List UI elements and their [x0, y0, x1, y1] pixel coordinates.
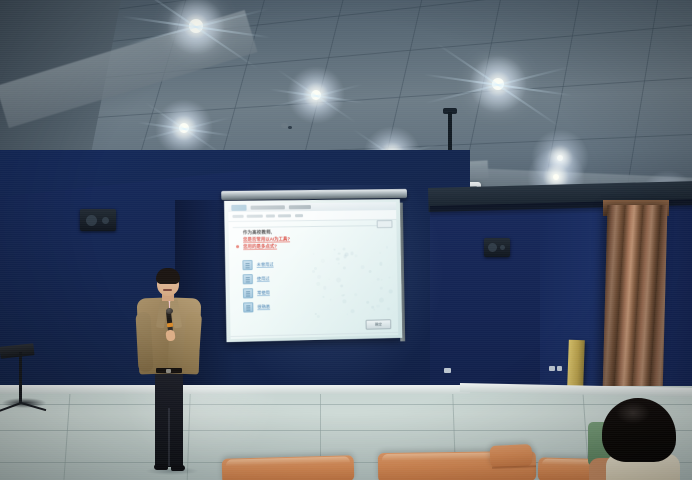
speaker-tweeter-left [102, 217, 109, 224]
slide-decorative-dot [366, 301, 369, 304]
slide-decorative-dot [313, 253, 315, 255]
presenter-arm-left [135, 312, 153, 373]
presenter [128, 268, 208, 480]
presenter-hair [156, 268, 180, 284]
slide-footer-rule [231, 332, 399, 337]
slide-decorative-dot [377, 305, 380, 308]
presentation-stand-pole [19, 352, 22, 404]
slide-decorative-dot [387, 307, 390, 310]
slide-decorative-dot [389, 290, 392, 293]
slide-decorative-dot [340, 284, 343, 287]
slide-option-label: 未曾用过 [257, 262, 274, 268]
slide-decorative-dot [346, 313, 348, 315]
microphone-icon [166, 308, 173, 314]
toolbar-item-1[interactable] [232, 215, 243, 218]
toolbar-item-4[interactable] [278, 214, 291, 217]
slide-decorative-dot [315, 313, 317, 315]
slide-app-tab[interactable] [231, 205, 246, 211]
document-icon [243, 288, 253, 298]
floor-grout-v1 [63, 386, 71, 480]
slide-decorative-dot [334, 249, 336, 251]
wall-outlet-2[interactable] [549, 366, 555, 371]
slide-decorative-dot [314, 267, 317, 270]
wall-speaker-right [484, 238, 510, 257]
slide-decorative-dot [361, 265, 365, 269]
seated-audience-member [588, 398, 692, 480]
document-icon [243, 302, 253, 312]
slide-option-2[interactable]: 常使用 [243, 288, 270, 299]
trouser-seam [168, 408, 170, 466]
slide-decorative-dot [380, 252, 382, 254]
ceiling-downlight [311, 90, 321, 100]
conference-room-photo: 作为高校教师, 您是否常用以AI为工具? 您用的是多点式? 未曾用过 使用过 常… [0, 0, 692, 480]
presenter-shoe-right [171, 465, 185, 471]
document-icon [242, 260, 252, 270]
slide-decorative-dot [385, 246, 387, 248]
speaker-grill-left [86, 215, 97, 226]
wall-outlet-3[interactable] [557, 366, 562, 371]
speaker-grill-right [488, 243, 497, 252]
ceiling-speaker-dome [288, 126, 292, 129]
slide-decorative-dot [321, 258, 325, 262]
belt-buckle [166, 369, 171, 373]
slide-decorative-dot [379, 298, 384, 303]
slide-decorative-dot [380, 287, 383, 290]
slide-titlebar-text-2 [289, 205, 311, 209]
slide-decorative-dot [343, 299, 347, 303]
slide-decorative-dot [379, 262, 383, 266]
slide-option-label: 很熟悉 [257, 304, 270, 310]
smoke-sensor [281, 123, 288, 128]
slide-question-line-2: 您用的是多点式? [243, 244, 277, 251]
microphone-band [167, 323, 173, 328]
slide-decorative-dot [317, 315, 320, 318]
slide-decorative-dot [316, 282, 320, 286]
toolbar-item-2[interactable] [247, 215, 263, 218]
slide-divider [233, 221, 391, 228]
toolbar-item-3[interactable] [266, 214, 275, 217]
slide-question-line-1: 您是否常用以AI为工具? [243, 236, 290, 243]
slide-decorative-dot [350, 252, 353, 255]
slide-option-1[interactable]: 使用过 [243, 274, 270, 285]
slide-corner-button[interactable] [377, 220, 393, 228]
slide-decorative-dot [336, 257, 339, 260]
slide-dot-decoration [310, 246, 394, 321]
slide-decorative-dot [338, 252, 341, 255]
slide-decorative-dot [342, 294, 344, 296]
slide-titlebar-text [251, 205, 285, 209]
slide-decorative-dot [328, 278, 330, 280]
slide-heading: 作为高校教师, [243, 230, 272, 237]
slide-decorative-dot [343, 255, 346, 258]
yellow-board [567, 340, 585, 389]
slide-decorative-dot [377, 277, 380, 280]
slide-content: 作为高校教师, 您是否常用以AI为工具? 您用的是多点式? 未曾用过 使用过 常… [228, 202, 398, 339]
projection-screen[interactable]: 作为高校教师, 您是否常用以AI为工具? 您用的是多点式? 未曾用过 使用过 常… [224, 199, 402, 342]
stand-base-shadow [2, 398, 46, 408]
presenter-shoe-left [154, 464, 168, 470]
document-icon [243, 274, 253, 284]
slide-decorative-dot [343, 266, 347, 270]
projection-screen-assembly: 作为高校教师, 您是否常用以AI为工具? 您用的是多点式? 未曾用过 使用过 常… [225, 195, 401, 342]
slide-decorative-dot [338, 263, 340, 265]
slide-decorative-dot [350, 310, 354, 314]
slide-decorative-dot [354, 254, 357, 257]
slide-decorative-dot [323, 296, 325, 298]
ceiling-downlight [189, 19, 203, 33]
curtain-shading [603, 205, 668, 395]
slide-decorative-dot [329, 299, 331, 301]
slide-option-0[interactable]: 未曾用过 [242, 260, 273, 271]
slide-option-label: 常使用 [257, 290, 270, 296]
slide-decorative-dot [312, 270, 315, 273]
sofa-center-arm[interactable] [489, 444, 532, 468]
presenter-hand [165, 329, 175, 341]
slide-decorative-dot [336, 277, 341, 282]
slide-decorative-dot [388, 277, 390, 279]
ceiling-downlight [179, 123, 189, 133]
slide-decorative-dot [343, 247, 346, 250]
slide-decorative-dot [354, 293, 357, 296]
slide-decorative-dot [317, 275, 321, 279]
slide-decorative-dot [372, 306, 374, 308]
slide-decorative-dot [323, 286, 327, 290]
slide-option-3[interactable]: 很熟悉 [243, 302, 270, 313]
wall-outlet-1[interactable] [444, 368, 451, 373]
slide-decorative-dot [345, 253, 349, 257]
slide-decorative-dot [369, 270, 372, 273]
toolbar-item-5[interactable] [295, 214, 303, 217]
bullet-dot-icon [236, 245, 239, 248]
slide-option-label: 使用过 [257, 276, 270, 282]
slide-ok-button[interactable]: 确定 [366, 319, 392, 330]
slide-decorative-dot [343, 294, 345, 296]
presenter-mouth [163, 289, 172, 291]
presenter-arm-right [182, 312, 202, 375]
ceiling-downlight [553, 174, 559, 180]
slide-decorative-dot [374, 308, 376, 310]
wall-speaker-left [80, 209, 116, 231]
ceiling-downlight [492, 78, 504, 90]
viewer-hair-highlight [616, 402, 650, 424]
speaker-tweeter-right [500, 245, 505, 250]
slide-decorative-dot [380, 279, 382, 281]
